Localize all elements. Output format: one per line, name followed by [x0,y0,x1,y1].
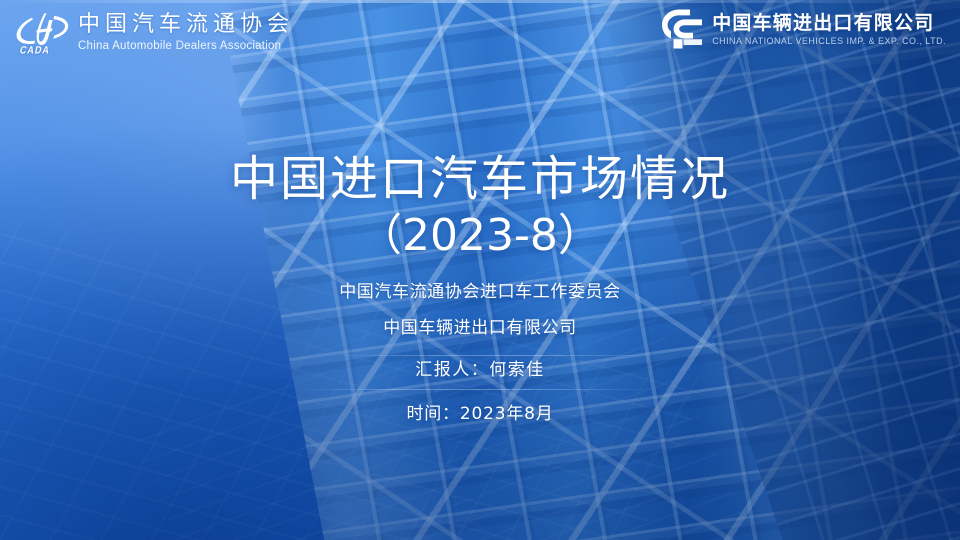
page-subtitle: （2023-8） [0,210,960,263]
slide-title-block: 中国进口汽车市场情况 （2023-8） 中国汽车流通协会进口车工作委员会 中国车… [0,152,960,423]
slide-meta-block: 中国汽车流通协会进口车工作委员会 中国车辆进出口有限公司 汇报人：何索佳 时间：… [0,284,960,423]
cnv-name-cn: 中国车辆进出口有限公司 [712,12,946,35]
cnv-logo-text: 中国车辆进出口有限公司 CHINA NATIONAL VEHICLES IMP.… [712,12,946,47]
cnv-emblem-icon [659,8,705,50]
cnv-name-en: CHINA NATIONAL VEHICLES IMP. & EXP. CO.,… [712,36,946,46]
cada-logo: CADA 中国汽车流通协会 China Automobile Dealers A… [16,10,294,54]
meta-presenter: 汇报人：何索佳 [415,362,545,379]
page-title: 中国进口汽车市场情况 [0,152,960,208]
cnv-logo: 中国车辆进出口有限公司 CHINA NATIONAL VEHICLES IMP.… [659,8,946,50]
meta-date: 时间：2023年8月 [406,406,553,423]
meta-organization-secondary: 中国车辆进出口有限公司 [383,320,577,337]
cada-name-cn: 中国汽车流通协会 [78,12,294,37]
background-top-highlight-line [0,0,960,3]
cada-wordmark: CADA [19,44,52,56]
presentation-title-slide: CADA 中国汽车流通协会 China Automobile Dealers A… [0,0,960,540]
cada-name-en: China Automobile Dealers Association [78,40,294,52]
cada-logo-text: 中国汽车流通协会 China Automobile Dealers Associ… [78,12,294,51]
meta-organization-primary: 中国汽车流通协会进口车工作委员会 [339,284,621,301]
cada-emblem-icon: CADA [16,10,70,54]
